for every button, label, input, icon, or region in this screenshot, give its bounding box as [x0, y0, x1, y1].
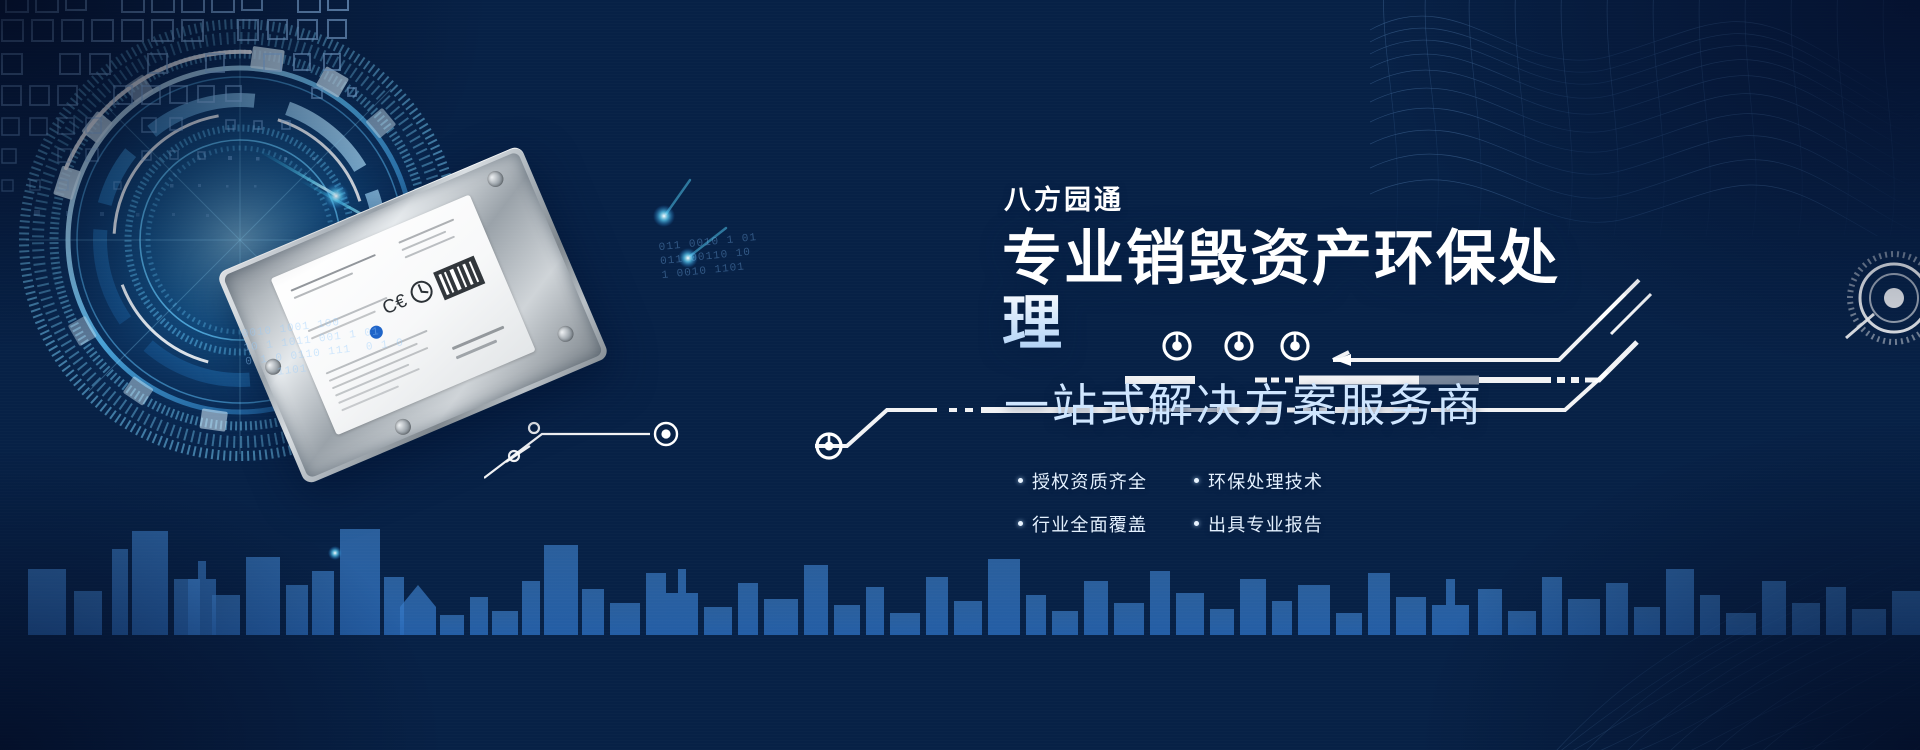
svg-text:C€: C€ — [379, 290, 410, 319]
corner-ring-decoration — [1816, 228, 1920, 368]
feature-list: 授权资质齐全 环保处理技术 行业全面覆盖 出具专业报告 — [1018, 468, 1370, 554]
feature-item: 环保处理技术 — [1194, 468, 1370, 494]
brand-eyebrow: 八方园通 — [1004, 178, 1602, 217]
bullet-dot-icon — [1194, 478, 1199, 483]
feature-label: 环保处理技术 — [1208, 468, 1323, 494]
feature-item: 授权资质齐全 — [1018, 468, 1194, 494]
feature-label: 授权资质齐全 — [1032, 468, 1147, 494]
feature-label: 行业全面覆盖 — [1032, 511, 1147, 537]
hero-banner: C€ 0010 1001 100 10 1 1011 001 1 01 0 1 … — [0, 0, 1920, 750]
feature-item: 行业全面覆盖 — [1018, 511, 1194, 537]
bullet-dot-icon — [1018, 521, 1023, 526]
bullet-dot-icon — [1194, 521, 1199, 526]
hero-copy-block: 八方园通 专业销毁资产环保处理 一站式解决方案服务商 授权资质齐全 环保处理技术… — [1002, 178, 1602, 554]
bullet-dot-icon — [1018, 478, 1023, 483]
hero-subheadline: 一站式解决方案服务商 — [1004, 369, 1602, 434]
certification-marks-icon: C€ — [377, 269, 448, 322]
feature-label: 出具专业报告 — [1208, 511, 1323, 537]
feature-item: 出具专业报告 — [1194, 511, 1370, 537]
hero-headline: 专业销毁资产环保处理 — [1002, 227, 1602, 357]
